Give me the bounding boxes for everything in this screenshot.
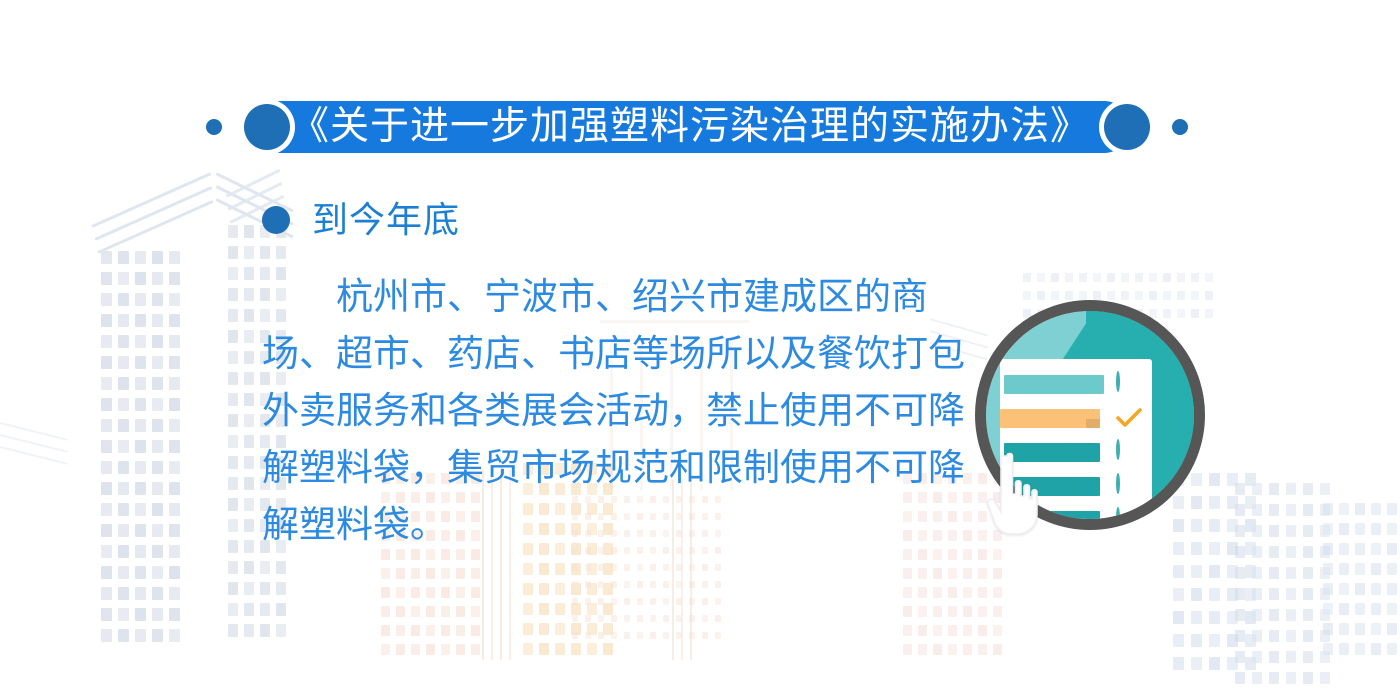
body-paragraph: 杭州市、宁波市、绍兴市建成区的商场、超市、药店、书店等场所以及餐饮打包外卖服务和… <box>262 268 972 553</box>
right-building-windows-c <box>1320 500 1400 660</box>
page-title: 《关于进一步加强塑料污染治理的实施办法》 <box>290 101 1090 153</box>
section-subtitle: 到今年底 <box>262 198 460 242</box>
subtitle-text: 到今年底 <box>312 198 460 242</box>
checklist-circle-illustration <box>975 300 1205 530</box>
title-banner: 《关于进一步加强塑料污染治理的实施办法》 <box>206 96 1188 158</box>
decorative-dot-large-left <box>244 104 290 150</box>
left-building-windows-a <box>98 248 183 647</box>
decorative-dot-small-left <box>206 119 222 135</box>
decorative-dot-large-right <box>1104 104 1150 150</box>
decorative-dot-small-right <box>1172 119 1188 135</box>
right-building-windows-b <box>1232 480 1334 690</box>
pointing-hand-cursor-icon <box>981 450 1045 536</box>
left-lower-accent-lines <box>0 418 80 468</box>
bullet-dot-icon <box>262 206 290 234</box>
title-banner-bar: 《关于进一步加强塑料污染治理的实施办法》 <box>254 101 1130 153</box>
slide-canvas: 《关于进一步加强塑料污染治理的实施办法》 到今年底 杭州市、宁波市、绍兴市建成区… <box>0 0 1400 700</box>
